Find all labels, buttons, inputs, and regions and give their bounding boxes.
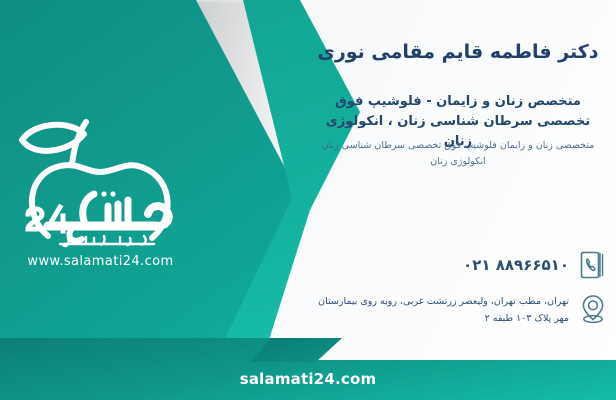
address-row[interactable]: تهران، مطب تهران، ولیعصر زرتشت غربی، روب…	[310, 292, 608, 327]
clinic-address: تهران، مطب تهران، ولیعصر زرتشت غربی، روب…	[310, 292, 569, 327]
map-pin-icon	[578, 292, 608, 326]
phone-book-icon	[578, 248, 608, 282]
doctor-name: دکتر فاطمه قایم مقامی نوری	[312, 40, 604, 65]
phone-number: ۸۸۹۶۶۵۱۰ ۰۲۱	[310, 256, 569, 274]
banner-website[interactable]: salamati24.com	[0, 370, 616, 388]
logo-website-url: www.salamati24.com	[8, 254, 193, 269]
business-card: www.salamati24.com دکتر فاطمه قایم مقامی…	[0, 0, 616, 400]
card-content: دکتر فاطمه قایم مقامی نوری متخصص زنان و …	[300, 0, 616, 340]
salamati24-logo: www.salamati24.com	[8, 108, 193, 273]
doctor-specialty-secondary: متخصصی زنان و زایمان فلوشیپ فوق تخصصی سر…	[310, 138, 606, 170]
phone-row[interactable]: ۸۸۹۶۶۵۱۰ ۰۲۱	[310, 248, 608, 282]
